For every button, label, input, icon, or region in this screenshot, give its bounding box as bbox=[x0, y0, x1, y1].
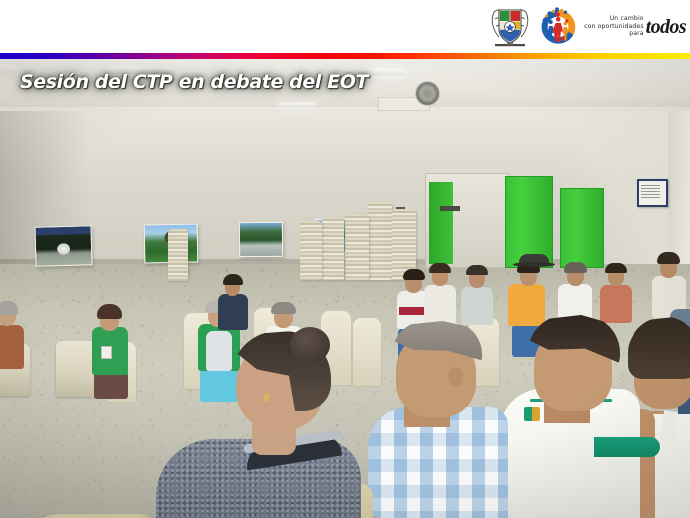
attendee-hair bbox=[657, 252, 680, 264]
attendee-hair bbox=[466, 265, 488, 275]
page-root: Un cambio con oportunidades para todos bbox=[0, 0, 690, 518]
attendee-torso bbox=[218, 294, 248, 330]
ventilation-fan-icon bbox=[415, 81, 440, 106]
attendee-hair bbox=[429, 263, 451, 273]
stacked-chairs bbox=[322, 217, 344, 280]
attendee-hair bbox=[605, 263, 627, 273]
attendee-shirt bbox=[206, 331, 232, 371]
polo-logo bbox=[524, 407, 540, 421]
id-badge bbox=[101, 346, 112, 359]
earring bbox=[264, 393, 269, 402]
stacked-chairs bbox=[368, 202, 392, 280]
polo-sleeve bbox=[594, 437, 660, 457]
attendee-torso bbox=[600, 285, 632, 323]
page-header: Un cambio con oportunidades para todos bbox=[0, 0, 690, 53]
hair-bun bbox=[290, 327, 330, 363]
tagline-line-3: para bbox=[584, 30, 643, 37]
coat-of-arms-icon bbox=[487, 3, 533, 50]
stacked-chairs bbox=[345, 214, 369, 280]
banner-photo bbox=[0, 59, 690, 518]
banner-title: Sesión del CTP en debate del EOT bbox=[20, 71, 368, 93]
wall-painting bbox=[34, 225, 92, 266]
green-door bbox=[560, 188, 604, 268]
ceiling-light bbox=[278, 103, 317, 107]
door-sign bbox=[440, 206, 460, 211]
attendee-hat-brim bbox=[513, 262, 555, 267]
attendee-hair bbox=[97, 304, 122, 319]
attendee-hair bbox=[271, 302, 296, 314]
stacked-chairs bbox=[300, 221, 322, 280]
attendee-torso bbox=[461, 287, 493, 325]
tagline-block: Un cambio con oportunidades para todos bbox=[584, 15, 686, 37]
attendee-torso bbox=[508, 284, 545, 326]
empty-chair bbox=[352, 317, 382, 387]
attendee-hair bbox=[223, 274, 243, 285]
attendee-hair bbox=[564, 262, 587, 273]
tagline-line-2: con oportunidades bbox=[584, 23, 643, 30]
door-open-panel bbox=[429, 182, 453, 264]
logo-group: Un cambio con oportunidades para todos bbox=[487, 2, 688, 51]
certificate-text bbox=[641, 185, 660, 198]
tagline-emphasis: todos bbox=[646, 17, 686, 37]
stacked-chairs bbox=[168, 229, 188, 281]
attendee-torso bbox=[424, 285, 456, 323]
attendee-legs bbox=[200, 367, 238, 402]
attendee-torso bbox=[0, 325, 24, 369]
circular-emblem-icon bbox=[537, 6, 579, 48]
tagline-line-1: Un cambio bbox=[584, 15, 643, 22]
attendee-hair bbox=[0, 301, 18, 315]
attendee-ear bbox=[448, 367, 463, 387]
wall-column bbox=[668, 111, 690, 271]
ceiling-vent bbox=[0, 69, 16, 79]
attendee-hair bbox=[403, 269, 425, 280]
shirt-stripe bbox=[399, 307, 427, 315]
wall-painting bbox=[239, 222, 283, 257]
